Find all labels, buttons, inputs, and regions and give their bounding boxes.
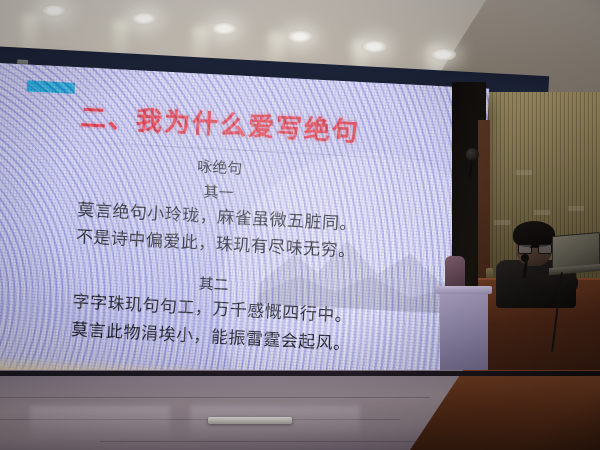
floor-screen-seam [0,371,600,376]
glasses-lens-left [518,244,532,254]
chair [445,256,465,290]
glasses-lens-right [538,244,552,254]
floor-plank-line [0,397,430,398]
ceiling-downlight-icon [211,22,237,35]
presenter-arm [534,274,578,292]
glasses-bridge [530,247,538,248]
ceiling-downlight-icon [361,40,387,53]
wall-seam [516,170,532,175]
keyboard-on-stage [208,417,292,424]
wall-seam [534,210,550,215]
wall-speaker-icon [466,148,479,161]
glasses-icon [518,244,550,252]
floor-plank-line [100,441,420,442]
lecture-hall-photo: 二、我为什么爱写绝句 咏绝句 其一 莫言绝句小玲珑，麻雀虽微五脏同。 不是诗中偏… [0,0,600,450]
floor-reflection [30,406,170,440]
ceiling-downlight-icon [131,12,157,25]
wall-seam [568,206,584,211]
lectern-cap [436,286,492,294]
ceiling-downlight-icon [41,4,67,17]
laptop [552,234,600,276]
moire-pixel-grid [0,62,489,406]
projection-screen: 二、我为什么爱写绝句 咏绝句 其一 莫言绝句小玲珑，麻雀虽微五脏同。 不是诗中偏… [0,62,489,406]
ceiling-downlight-icon [287,30,313,43]
ceiling-downlight-icon [430,48,456,61]
